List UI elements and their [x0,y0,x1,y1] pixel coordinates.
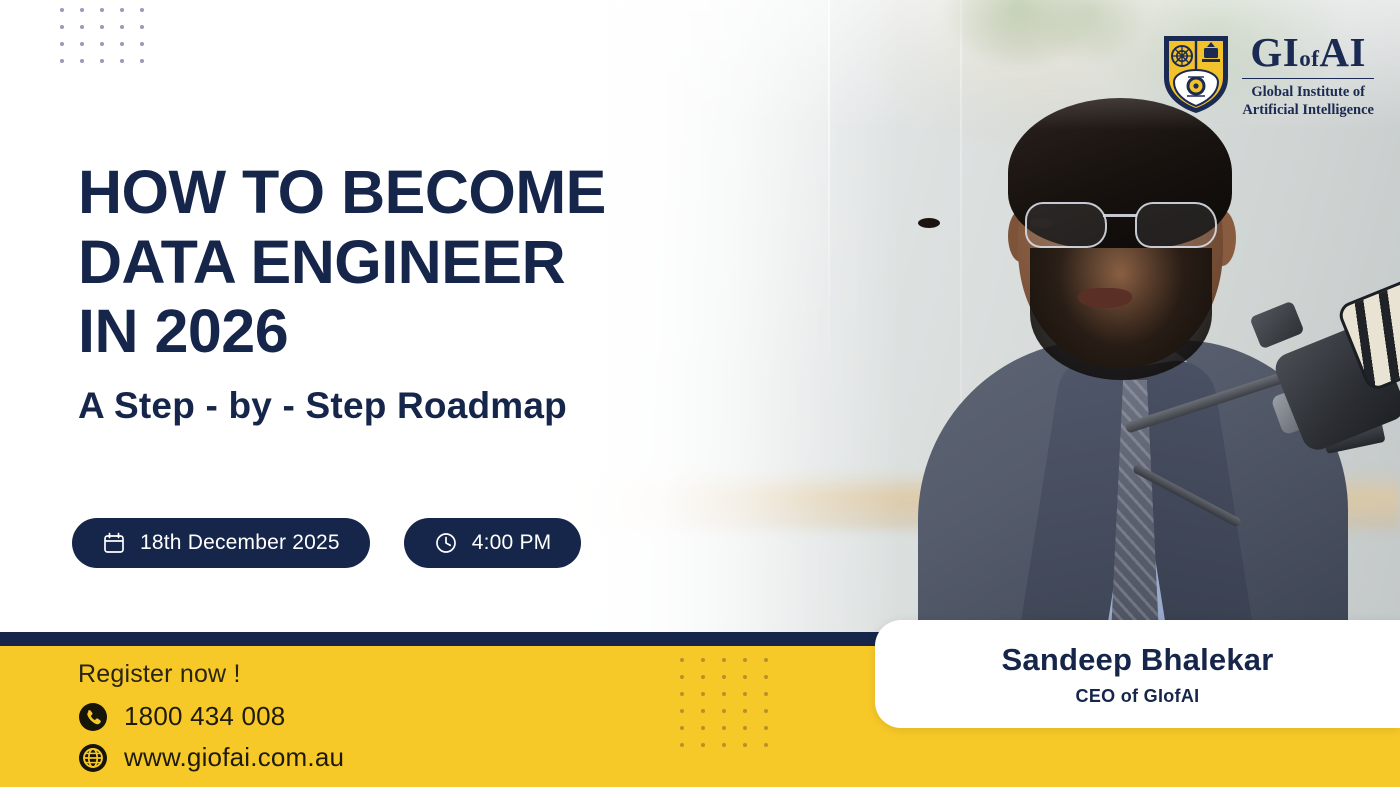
dot [100,42,104,46]
dot [80,42,84,46]
podcast-microphone [1126,278,1400,548]
dot [680,658,684,662]
eyeglasses-icon [1023,202,1221,246]
phone-number: 1800 434 008 [124,701,285,732]
speaker-name-card: Sandeep Bhalekar CEO of GIofAI [875,620,1400,728]
date-badge-label: 18th December 2025 [140,531,340,555]
dot [140,8,144,12]
dot [701,658,705,662]
dot [743,658,747,662]
dot [60,8,64,12]
calendar-icon [102,531,126,555]
dot [120,25,124,29]
decorative-dot-grid-footer [680,658,785,760]
dot [701,743,705,747]
dot [100,59,104,63]
dot [722,743,726,747]
logo-divider [1242,78,1374,80]
website-contact-row[interactable]: www.giofai.com.au [78,742,344,773]
dot [743,743,747,747]
clock-icon [434,531,458,555]
time-badge-label: 4:00 PM [472,531,552,555]
time-badge[interactable]: 4:00 PM [404,518,582,568]
dot [80,8,84,12]
dot [722,726,726,730]
logo-subtitle-line-1: Global Institute of [1251,83,1365,101]
speaker-name: Sandeep Bhalekar [1002,642,1274,678]
headline-line-1: HOW TO BECOME [78,158,718,228]
logo-word-gi: GI [1250,29,1299,75]
phone-icon [78,702,108,732]
logo-word-ai: AI [1319,29,1366,75]
eyeglass-lens-right [1135,202,1217,248]
logo-subtitle-line-2: Artificial Intelligence [1242,101,1374,119]
dot [743,675,747,679]
phone-contact-row[interactable]: 1800 434 008 [78,701,344,732]
dot [100,25,104,29]
brand-logo[interactable]: GIofAI Global Institute of Artificial In… [1160,30,1374,121]
event-details-badges: 18th December 2025 4:00 PM [72,518,581,568]
dot [701,726,705,730]
eyeglass-lens-left [1025,202,1107,248]
dot [680,709,684,713]
dot [140,59,144,63]
dot [764,658,768,662]
dot [680,726,684,730]
logo-word-of: of [1299,46,1319,71]
person-mouth [1078,288,1132,308]
dot [764,726,768,730]
dot [80,25,84,29]
speaker-role: CEO of GIofAI [1076,686,1200,707]
dot [60,59,64,63]
headline-line-3: IN 2026 [78,297,718,367]
dot [743,692,747,696]
dot [764,692,768,696]
dot [100,8,104,12]
dot [722,675,726,679]
microphone-clip [1249,301,1304,350]
date-badge[interactable]: 18th December 2025 [72,518,370,568]
microphone-boom-arm-lower [1132,464,1242,528]
dot [701,709,705,713]
dot [764,675,768,679]
page-title: HOW TO BECOME DATA ENGINEER IN 2026 [78,158,718,367]
dot [120,8,124,12]
page-subtitle: A Step - by - Step Roadmap [78,385,567,427]
dot [722,709,726,713]
dot [680,692,684,696]
dot [701,675,705,679]
dot [764,709,768,713]
dot [680,675,684,679]
logo-text-block: GIofAI Global Institute of Artificial In… [1242,32,1374,120]
person-eye-left [918,218,940,228]
dot [60,42,64,46]
registration-info: Register now ! 1800 434 008 [78,660,344,783]
dot [743,726,747,730]
dot [120,42,124,46]
decorative-dot-grid-top-left [60,8,160,76]
dot [80,59,84,63]
dot [120,59,124,63]
dot [764,743,768,747]
register-now-label: Register now ! [78,660,344,689]
headline-line-2: DATA ENGINEER [78,228,718,298]
webinar-promo-banner: HOW TO BECOME DATA ENGINEER IN 2026 A St… [0,0,1400,787]
dot [60,25,64,29]
shield-crest-icon [1160,30,1232,121]
globe-icon [78,743,108,773]
dot [743,709,747,713]
dot [701,692,705,696]
eyeglass-bridge [1103,214,1137,217]
dot [722,658,726,662]
logo-wordmark: GIofAI [1250,32,1366,73]
website-url: www.giofai.com.au [124,742,344,773]
dot [722,692,726,696]
dot [140,25,144,29]
dot [680,743,684,747]
dot [140,42,144,46]
